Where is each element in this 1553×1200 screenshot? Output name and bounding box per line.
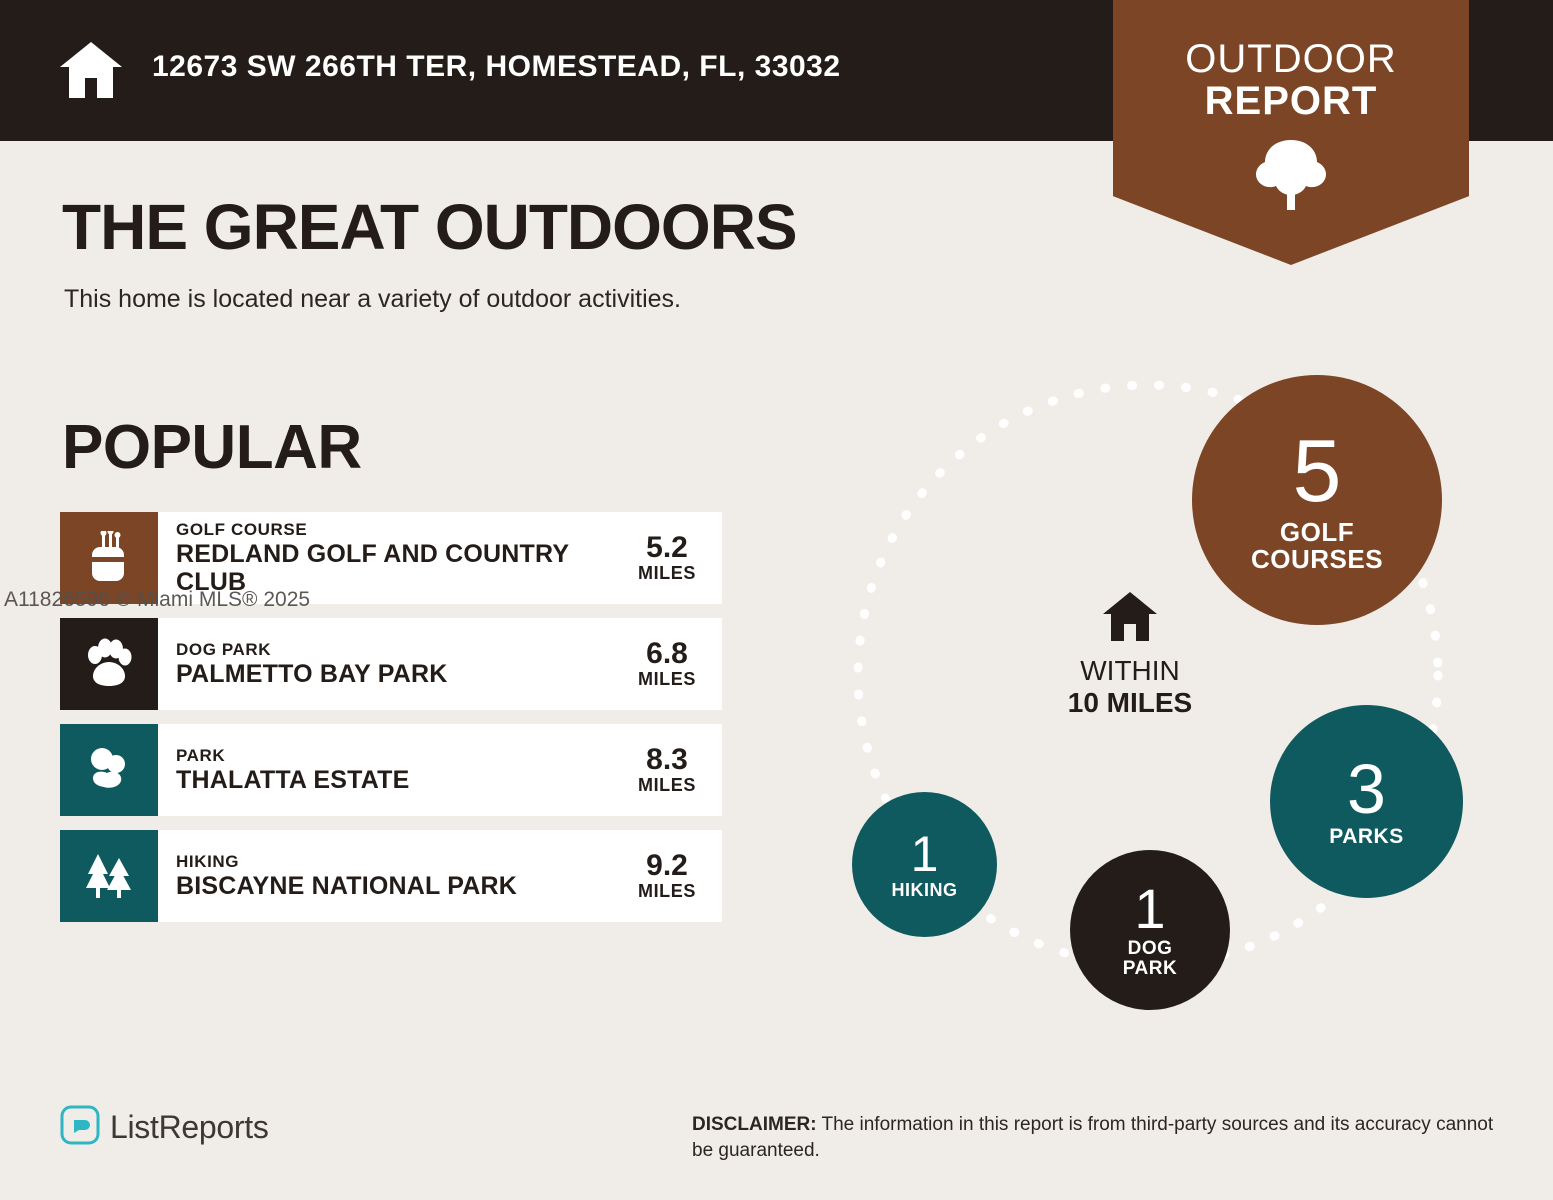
home-icon bbox=[1015, 590, 1245, 649]
bubble-count: 3 bbox=[1347, 754, 1386, 824]
pine-trees-icon bbox=[60, 830, 158, 922]
park-trees-icon bbox=[60, 724, 158, 816]
bubble-count: 1 bbox=[1134, 881, 1165, 937]
list-item[interactable]: PARK THALATTA ESTATE 8.3 MILES bbox=[60, 724, 722, 816]
bubble-label-line1: DOG bbox=[1123, 939, 1177, 959]
popular-list: GOLF COURSE REDLAND GOLF AND COUNTRY CLU… bbox=[60, 512, 722, 936]
distance-value: 8.3 bbox=[626, 745, 708, 775]
listreports-logo-icon bbox=[60, 1105, 100, 1150]
bubble-golf-courses: 5 GOLF COURSES bbox=[1192, 375, 1442, 625]
disclaimer: DISCLAIMER: The information in this repo… bbox=[692, 1112, 1502, 1163]
distance-value: 5.2 bbox=[626, 533, 708, 563]
list-item-body: DOG PARK PALMETTO BAY PARK 6.8 MILES bbox=[158, 618, 722, 710]
bubble-label-line2: COURSES bbox=[1251, 546, 1383, 573]
badge-line2: REPORT bbox=[1113, 80, 1469, 122]
distance-unit: MILES bbox=[626, 775, 708, 796]
property-address: 12673 SW 266TH TER, HOMESTEAD, FL, 33032 bbox=[152, 50, 841, 84]
list-item-distance: 9.2 MILES bbox=[626, 851, 722, 902]
distance-value: 9.2 bbox=[626, 851, 708, 881]
section-title-popular: POPULAR bbox=[62, 412, 362, 483]
list-item-category: DOG PARK bbox=[176, 640, 618, 660]
list-item-category: GOLF COURSE bbox=[176, 520, 618, 540]
list-item-name: THALATTA ESTATE bbox=[176, 766, 618, 794]
badge-line1: OUTDOOR bbox=[1113, 38, 1469, 80]
center-line2: 10 MILES bbox=[1015, 687, 1245, 719]
list-item-name: BISCAYNE NATIONAL PARK bbox=[176, 872, 618, 900]
bubble-parks: 3 PARKS bbox=[1270, 705, 1463, 898]
distance-unit: MILES bbox=[626, 669, 708, 690]
bubble-count: 1 bbox=[911, 829, 939, 879]
bubble-label-line2: PARK bbox=[1123, 959, 1177, 979]
list-item[interactable]: DOG PARK PALMETTO BAY PARK 6.8 MILES bbox=[60, 618, 722, 710]
listreports-logo[interactable]: ListReports bbox=[60, 1105, 269, 1150]
list-item-category: HIKING bbox=[176, 852, 618, 872]
page-subtitle: This home is located near a variety of o… bbox=[64, 285, 681, 314]
home-icon bbox=[58, 40, 124, 102]
list-item-distance: 6.8 MILES bbox=[626, 639, 722, 690]
outdoor-report-badge: OUTDOOR REPORT bbox=[1113, 0, 1469, 265]
list-item-body: HIKING BISCAYNE NATIONAL PARK 9.2 MILES bbox=[158, 830, 722, 922]
distance-unit: MILES bbox=[626, 563, 708, 584]
page-title: THE GREAT OUTDOORS bbox=[62, 190, 797, 264]
listreports-logo-text: ListReports bbox=[110, 1109, 269, 1146]
bubble-hiking: 1 HIKING bbox=[852, 792, 997, 937]
bubble-label-line1: PARKS bbox=[1329, 826, 1403, 848]
disclaimer-label: DISCLAIMER: bbox=[692, 1114, 817, 1135]
list-item-category: PARK bbox=[176, 746, 618, 766]
center-line1: WITHIN bbox=[1015, 655, 1245, 687]
tree-icon bbox=[1113, 136, 1469, 217]
bubble-label-line1: HIKING bbox=[892, 881, 958, 900]
list-item-name: PALMETTO BAY PARK bbox=[176, 660, 618, 688]
diagram-center-label: WITHIN 10 MILES bbox=[1015, 590, 1245, 719]
bubble-count: 5 bbox=[1293, 427, 1342, 515]
list-item-distance: 5.2 MILES bbox=[626, 533, 722, 584]
list-item-body: PARK THALATTA ESTATE 8.3 MILES bbox=[158, 724, 722, 816]
paw-icon bbox=[60, 618, 158, 710]
distance-unit: MILES bbox=[626, 881, 708, 902]
list-item-distance: 8.3 MILES bbox=[626, 745, 722, 796]
within-10-miles-diagram: WITHIN 10 MILES 5 GOLF COURSES 3 PARKS 1… bbox=[780, 330, 1520, 1050]
mls-watermark: A11826596 © Miami MLS® 2025 bbox=[4, 588, 310, 612]
distance-value: 6.8 bbox=[626, 639, 708, 669]
bubble-dog-park: 1 DOG PARK bbox=[1070, 850, 1230, 1010]
bubble-label-line1: GOLF bbox=[1251, 519, 1383, 546]
list-item[interactable]: HIKING BISCAYNE NATIONAL PARK 9.2 MILES bbox=[60, 830, 722, 922]
